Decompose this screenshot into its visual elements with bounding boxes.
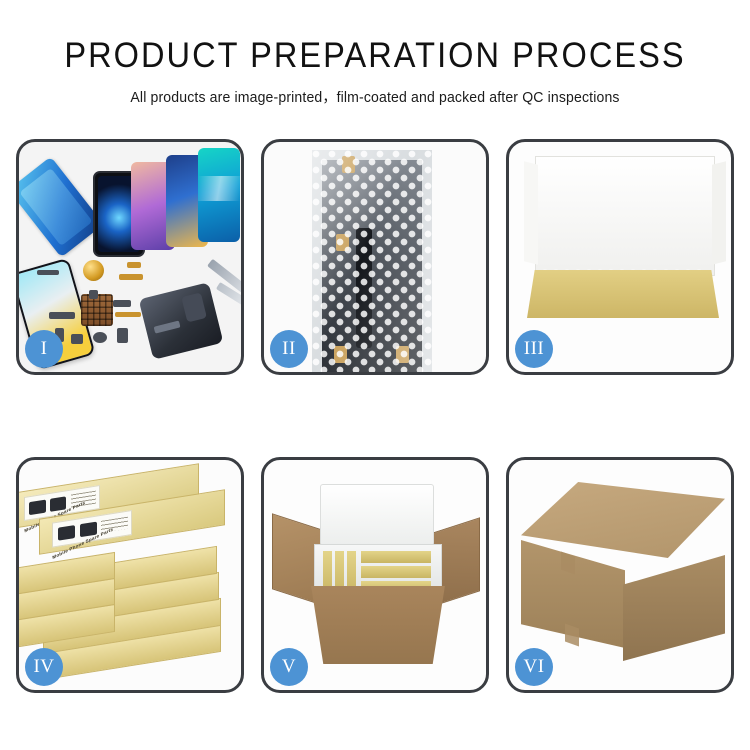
step-badge-3: III bbox=[515, 330, 553, 368]
speaker-module-icon bbox=[83, 260, 104, 281]
flex-cable-icon bbox=[127, 262, 141, 268]
carton-body-icon bbox=[302, 586, 454, 664]
process-step-card-5: V bbox=[261, 457, 489, 693]
product-preparation-page: PRODUCT PREPARATION PROCESS All products… bbox=[0, 0, 750, 750]
step-badge-6: VI bbox=[515, 648, 553, 686]
teal-screen-icon bbox=[198, 148, 240, 242]
process-step-card-3: III bbox=[506, 139, 734, 375]
process-step-card-2: II bbox=[261, 139, 489, 375]
part-icon bbox=[89, 290, 98, 299]
blue-screen-icon bbox=[19, 156, 104, 257]
page-subtitle: All products are image-printed，film-coat… bbox=[11, 86, 739, 107]
flex-cable-icon bbox=[115, 312, 141, 317]
part-icon bbox=[37, 270, 59, 275]
chip-grid-icon bbox=[81, 294, 113, 326]
phone-thumb-icon bbox=[29, 499, 45, 514]
step-badge-1: I bbox=[25, 330, 63, 368]
process-step-card-1: I bbox=[16, 139, 244, 375]
yellow-box-icon bbox=[361, 566, 431, 578]
part-icon bbox=[71, 334, 83, 344]
carton-side-icon bbox=[623, 555, 725, 661]
plastic-sheen-icon bbox=[312, 150, 432, 372]
tape-strip-icon bbox=[565, 623, 579, 646]
process-steps-grid: I II I bbox=[16, 139, 734, 693]
process-step-card-6: VI bbox=[506, 457, 734, 693]
part-icon bbox=[117, 328, 128, 343]
step-badge-2: II bbox=[270, 330, 308, 368]
part-icon bbox=[113, 300, 131, 307]
step-badge-4: IV bbox=[25, 648, 63, 686]
phone-thumb-icon bbox=[58, 525, 75, 541]
process-step-card-4: Mobile Phone Spare Parts Mobile Phone Sp… bbox=[16, 457, 244, 693]
step-badge-5: V bbox=[270, 648, 308, 686]
bubble-wrap-package bbox=[312, 150, 432, 372]
yellow-box-icon bbox=[361, 551, 431, 563]
part-icon bbox=[49, 312, 75, 319]
flex-cable-icon bbox=[119, 274, 143, 280]
page-header: PRODUCT PREPARATION PROCESS All products… bbox=[0, 0, 750, 107]
carton-top-icon bbox=[521, 482, 725, 558]
kraft-box-base-icon bbox=[527, 270, 719, 318]
box-lid-icon bbox=[535, 156, 715, 276]
phone-backplate-icon bbox=[139, 282, 224, 360]
page-title: PRODUCT PREPARATION PROCESS bbox=[26, 38, 724, 73]
foam-lid-icon bbox=[320, 484, 434, 546]
part-icon bbox=[93, 332, 107, 343]
box-label bbox=[52, 510, 132, 548]
